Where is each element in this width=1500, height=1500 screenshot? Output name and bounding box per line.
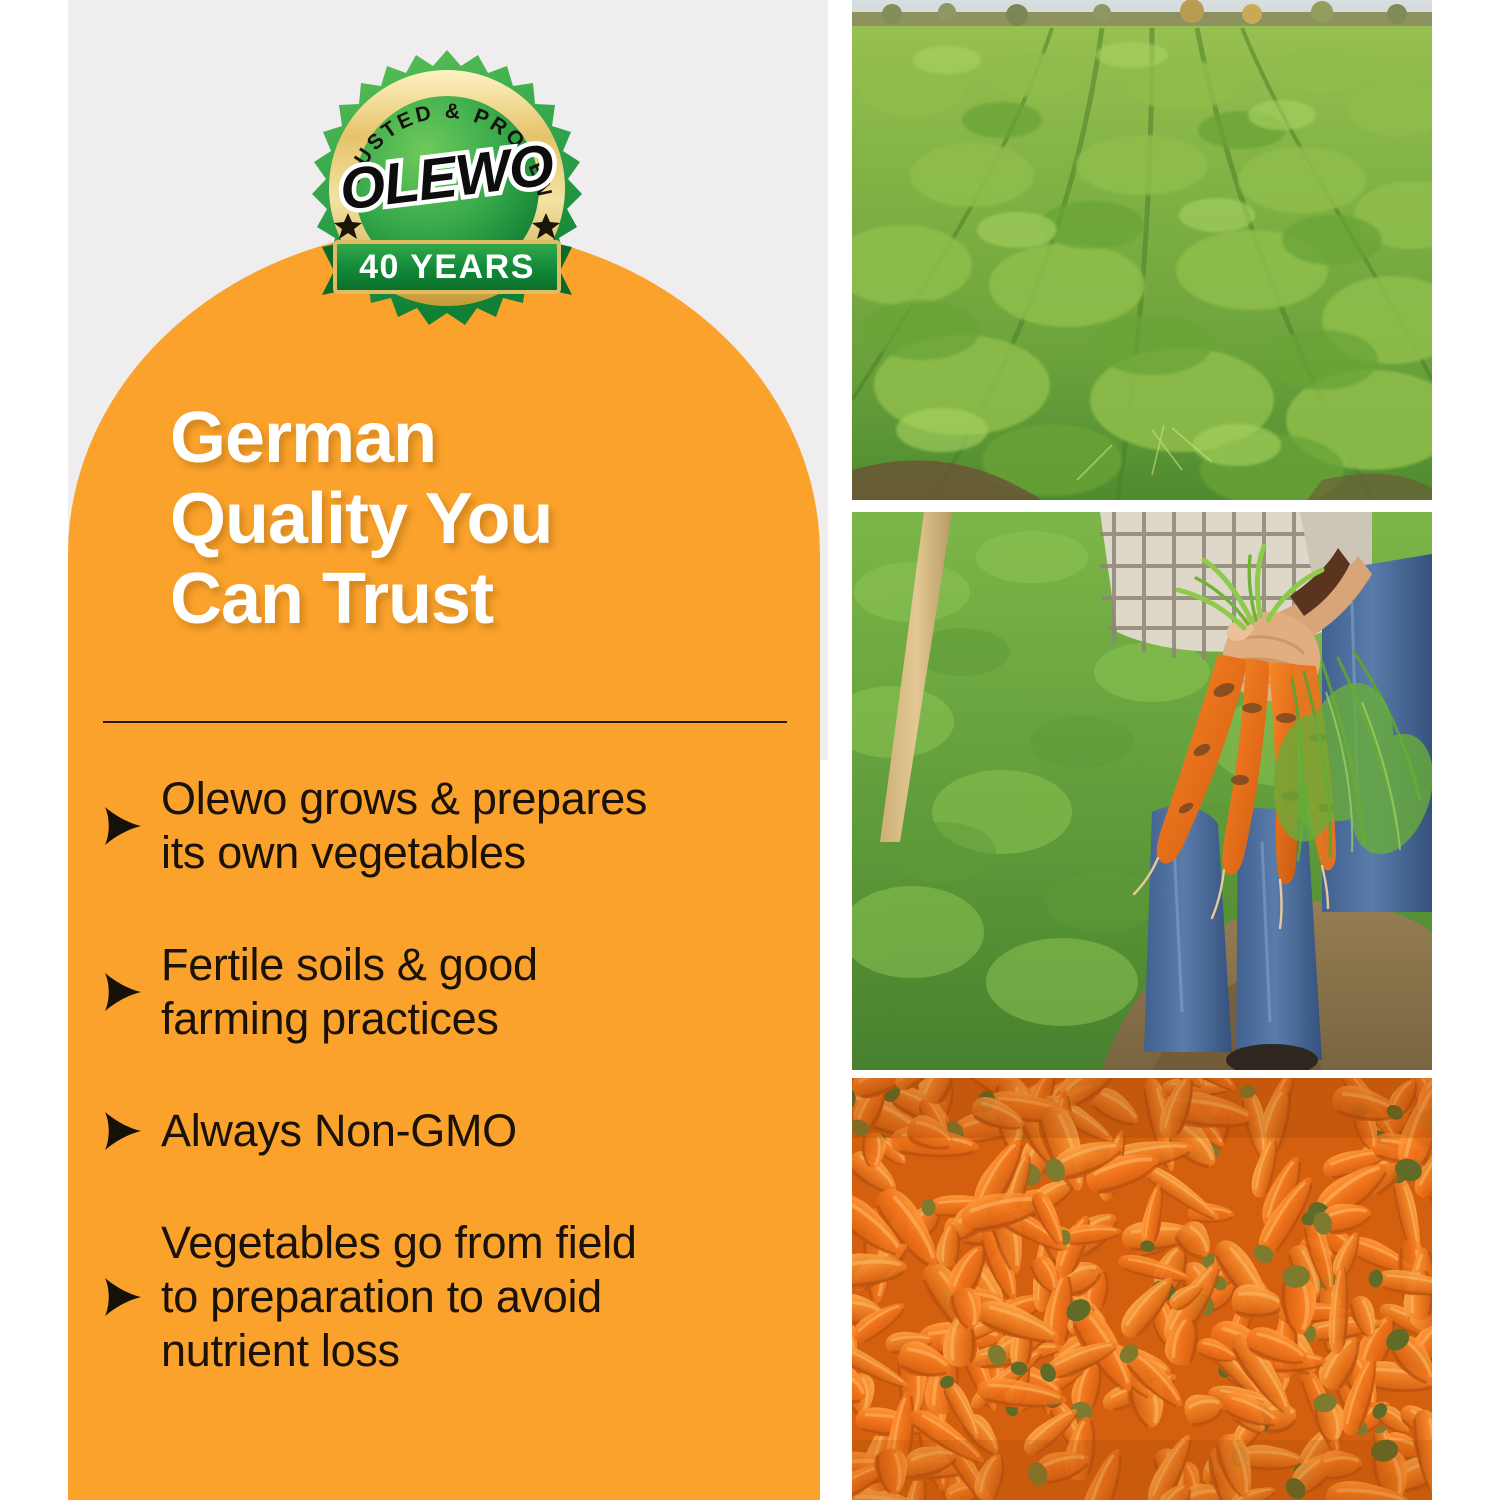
left-content-column: TRUSTED & PROVEN OLEWO 40 YEARS German bbox=[0, 0, 845, 1500]
bullet-4-line-1: Vegetables go from field bbox=[161, 1217, 637, 1268]
headline-line-3: Can Trust bbox=[170, 559, 770, 640]
list-item-text: Vegetables go from field to preparation … bbox=[161, 1216, 637, 1378]
list-item: Always Non-GMO bbox=[103, 1104, 803, 1158]
photo-carrot-pile bbox=[852, 1078, 1432, 1500]
arrow-bullet-icon bbox=[103, 1274, 153, 1320]
arrow-bullet-icon bbox=[103, 1108, 153, 1154]
bullet-2-line-1: Fertile soils & good bbox=[161, 939, 538, 990]
bullet-2-line-2: farming practices bbox=[161, 993, 499, 1044]
list-item: Olewo grows & prepares its own vegetable… bbox=[103, 772, 803, 880]
jeans-left-leg bbox=[1144, 806, 1232, 1052]
badge-ribbon-text: 40 YEARS bbox=[359, 248, 535, 286]
bullet-4-line-3: nutrient loss bbox=[161, 1325, 400, 1376]
arrow-bullet-icon bbox=[103, 969, 153, 1015]
photo-carrot-field bbox=[852, 0, 1432, 500]
headline-line-1: German bbox=[170, 398, 770, 479]
list-item-text: Fertile soils & good farming practices bbox=[161, 938, 538, 1046]
bullet-1-line-1: Olewo grows & prepares bbox=[161, 773, 647, 824]
photo-farmer-holding-carrots bbox=[852, 512, 1432, 1070]
list-item: Vegetables go from field to preparation … bbox=[103, 1216, 803, 1378]
bullet-4-line-2: to preparation to avoid bbox=[161, 1271, 602, 1322]
page-title: German Quality You Can Trust bbox=[170, 398, 770, 640]
list-item-text: Always Non-GMO bbox=[161, 1104, 517, 1158]
section-divider bbox=[103, 721, 787, 723]
list-item-text: Olewo grows & prepares its own vegetable… bbox=[161, 772, 647, 880]
list-item: Fertile soils & good farming practices bbox=[103, 938, 803, 1046]
infographic-root: TRUSTED & PROVEN OLEWO 40 YEARS German bbox=[0, 0, 1500, 1500]
arrow-bullet-icon bbox=[103, 803, 153, 849]
headline-line-2: Quality You bbox=[170, 479, 770, 560]
photo-gallery bbox=[852, 0, 1432, 1500]
bullet-1-line-2: its own vegetables bbox=[161, 827, 526, 878]
trust-badge: TRUSTED & PROVEN OLEWO 40 YEARS bbox=[292, 42, 602, 342]
feature-bullet-list: Olewo grows & prepares its own vegetable… bbox=[103, 772, 803, 1378]
bullet-3-line-1: Always Non-GMO bbox=[161, 1105, 517, 1156]
